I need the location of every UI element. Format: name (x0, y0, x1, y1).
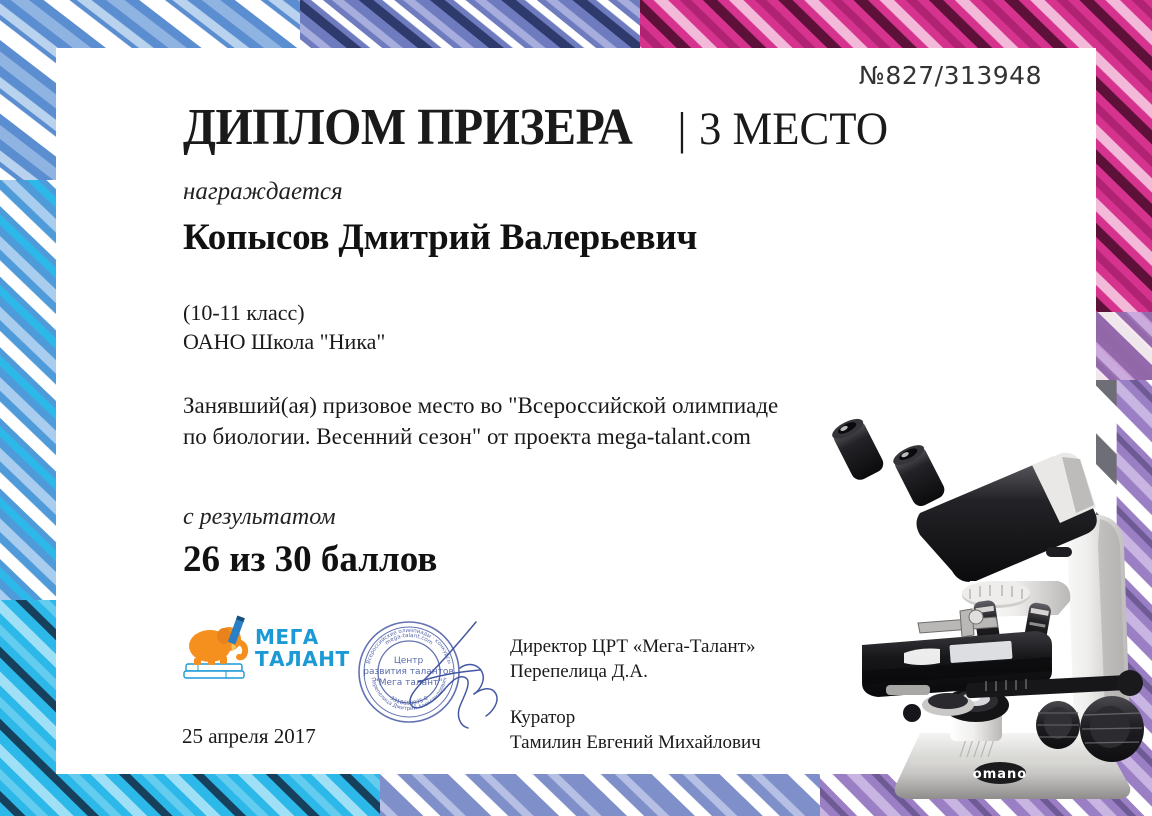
mega-talant-logo: МЕГА ТАЛАНТ (182, 614, 342, 684)
signature-role: Куратор (510, 705, 761, 730)
stamp-inner-line-3: "Мега талант" (356, 678, 461, 689)
result-label: с результатом (183, 504, 336, 531)
books-icon (184, 664, 244, 678)
certificate-page: №827/313948 ДИПЛОМ ПРИЗЕРА | 3 МЕСТО наг… (0, 0, 1152, 816)
logo-text: МЕГА ТАЛАНТ (255, 626, 350, 670)
recipient-school: ОАНО Школа "Ника" (183, 329, 385, 355)
recipient-name: Копысов Дмитрий Валерьевич (183, 216, 697, 259)
signature-curator: Куратор Тамилин Евгений Михайлович (510, 705, 761, 755)
description-line-2: по биологии. Весенний сезон" от проекта … (183, 421, 883, 452)
certificate-number: №827/313948 (859, 61, 1042, 90)
signature-director: Директор ЦРТ «Мега-Талант» Перепелица Д.… (510, 634, 755, 684)
recipient-grade: (10-11 класс) (183, 300, 305, 326)
stamp-inner-line-1: Центр (356, 656, 461, 667)
description-line-1: Занявший(ая) призовое место во "Всеросси… (183, 390, 883, 421)
result-value: 26 из 30 баллов (183, 538, 437, 581)
achievement-description: Занявший(ая) призовое место во "Всеросси… (183, 390, 883, 452)
awarded-label: награждается (183, 178, 343, 206)
certificate-card: №827/313948 ДИПЛОМ ПРИЗЕРА | 3 МЕСТО наг… (56, 48, 1096, 774)
issue-date: 25 апреля 2017 (182, 724, 316, 749)
title-main-text: ДИПЛОМ ПРИЗЕРА (183, 98, 632, 157)
signature-role: Директор ЦРТ «Мега-Талант» (510, 634, 755, 659)
logo-text-line-2: ТАЛАНТ (255, 648, 350, 670)
signature-person: Тамилин Евгений Михайлович (510, 730, 761, 755)
logo-text-line-1: МЕГА (255, 626, 350, 648)
title-separator: | (677, 102, 686, 155)
certificate-title: ДИПЛОМ ПРИЗЕРА | 3 МЕСТО (183, 98, 898, 157)
stamp-inner-text: Центр развития талантов "Мега талант" (356, 656, 461, 689)
title-place-text: 3 МЕСТО (699, 102, 888, 156)
signature-person: Перепелица Д.А. (510, 659, 755, 684)
stamp-inner-line-2: развития талантов (356, 667, 461, 678)
